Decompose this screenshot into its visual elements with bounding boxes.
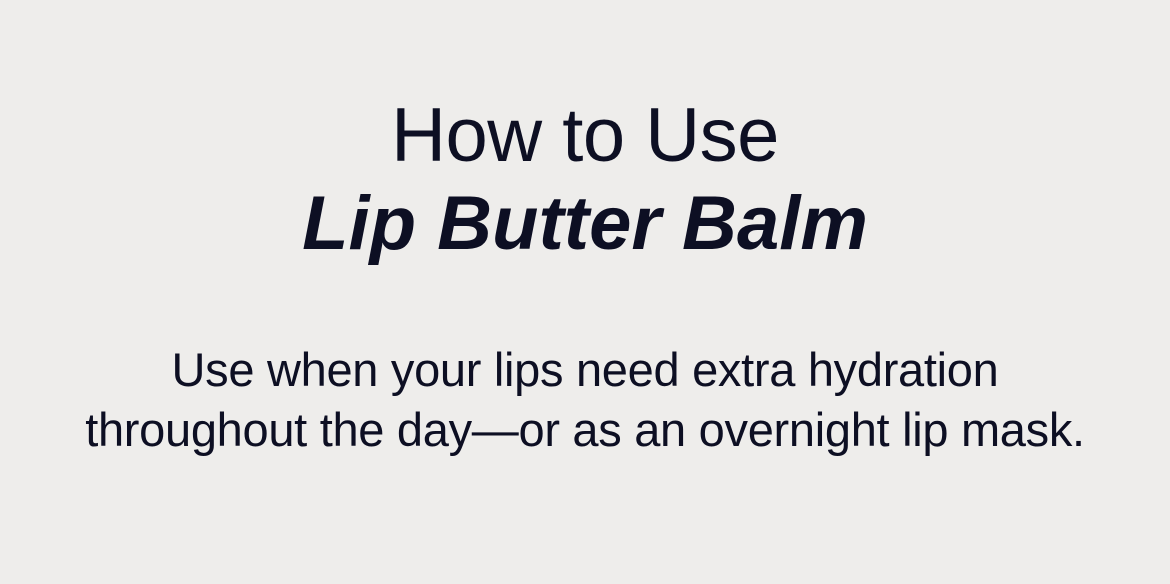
page-title: How to Use Lip Butter Balm: [40, 92, 1130, 268]
page-title-line-product-name: Lip Butter Balm: [40, 180, 1130, 268]
page-canvas: How to Use Lip Butter Balm Use when your…: [0, 0, 1170, 584]
page-title-line-primary: How to Use: [40, 92, 1130, 180]
usage-description: Use when your lips need extra hydration …: [70, 268, 1100, 460]
how-to-use-section: How to Use Lip Butter Balm Use when your…: [0, 0, 1170, 584]
